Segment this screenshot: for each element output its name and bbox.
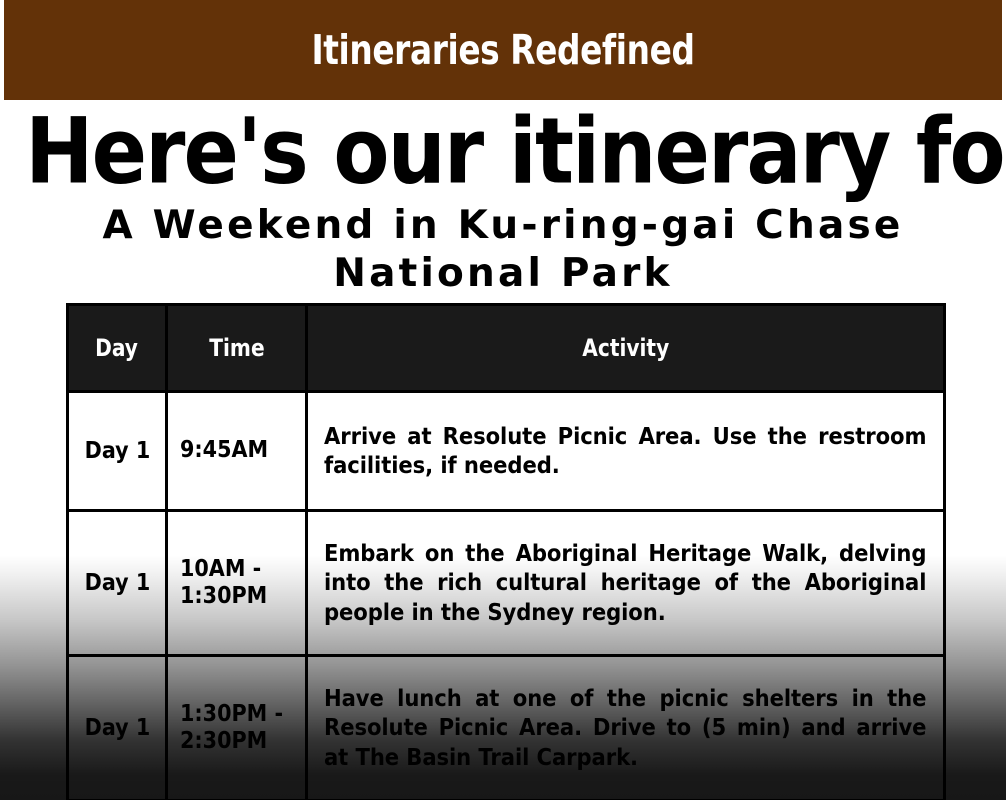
cell-activity: Have lunch at one of the picnic shelters… [307,656,945,800]
cell-time-text: 1:30PM - 2:30PM [180,701,293,755]
cell-time: 10AM - 1:30PM [167,511,307,656]
cell-activity-text: Arrive at Resolute Picnic Area. Use the … [324,422,926,480]
table-header: Day Time Activity [68,305,945,392]
cell-day-text: Day 1 [84,438,150,464]
headings-block: Here's our itinerary for A Weekend in Ku… [0,100,1006,297]
cell-activity-text: Embark on the Aboriginal Heritage Walk, … [324,539,926,626]
table-row: Day 1 9:45AM Arrive at Resolute Picnic A… [68,392,945,511]
cell-time: 1:30PM - 2:30PM [167,656,307,800]
banner-title: Itineraries Redefined [104,0,902,100]
column-header-day-label: Day [96,334,139,362]
page-subtitle: A Weekend in Ku-ring-gai Chase National … [0,192,1006,297]
column-header-time: Time [167,305,307,392]
cell-day: Day 1 [68,656,167,800]
cell-day: Day 1 [68,392,167,511]
column-header-activity-label: Activity [582,334,669,362]
table-row: Day 1 10AM - 1:30PM Embark on the Aborig… [68,511,945,656]
column-header-time-label: Time [209,334,264,362]
cell-time-text: 9:45AM [180,437,293,464]
table-header-row: Day Time Activity [68,305,945,392]
cell-activity: Embark on the Aboriginal Heritage Walk, … [307,511,945,656]
cell-day-text: Day 1 [84,570,150,596]
table-row: Day 1 1:30PM - 2:30PM Have lunch at one … [68,656,945,800]
cell-time: 9:45AM [167,392,307,511]
column-header-activity: Activity [307,305,945,392]
page-root: Itineraries Redefined YOUR DESTINATIONS … [0,0,1006,800]
itinerary-table-container: Day Time Activity Day 1 9:45AM [66,303,943,800]
itinerary-table: Day Time Activity Day 1 9:45AM [66,303,946,800]
cell-activity: Arrive at Resolute Picnic Area. Use the … [307,392,945,511]
cell-day-text: Day 1 [84,715,150,741]
page-title: Here's our itinerary for [25,100,981,198]
table-body: Day 1 9:45AM Arrive at Resolute Picnic A… [68,392,945,800]
column-header-day: Day [68,305,167,392]
cell-time-text: 10AM - 1:30PM [180,556,293,610]
cell-activity-text: Have lunch at one of the picnic shelters… [324,684,926,771]
cell-day: Day 1 [68,511,167,656]
header-banner: Itineraries Redefined [4,0,1002,100]
